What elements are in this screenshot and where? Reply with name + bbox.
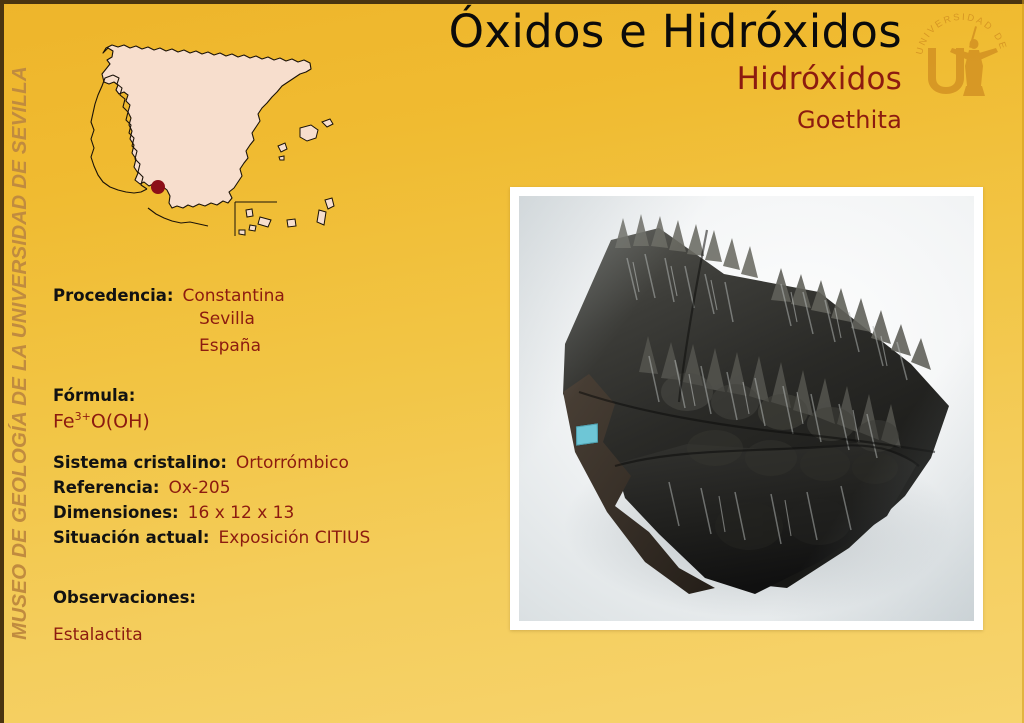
field-observaciones: Observaciones: Estalactita	[53, 588, 483, 645]
dimensiones-label: Dimensiones:	[53, 503, 179, 522]
universidad-de-sevilla-logo: UNIVERSIDAD DE SEVILLA	[906, 4, 1018, 108]
situacion-actual-value: Exposición CITIUS	[219, 528, 371, 548]
locality-marker	[151, 180, 165, 194]
canary-tenerife	[258, 217, 271, 227]
canary-gomera	[249, 225, 256, 231]
field-procedencia: Procedencia: Constantina Sevilla España	[53, 286, 483, 360]
museum-vertical-band: MUSEO DE GEOLOGÍA DE LA UNIVERSIDAD DE S…	[0, 3, 43, 703]
procedencia-value-2: Sevilla	[199, 306, 483, 333]
specimen-photo	[519, 196, 974, 621]
procedencia-value-3: España	[199, 333, 483, 360]
ibiza-island	[278, 143, 287, 152]
observaciones-value: Estalactita	[53, 625, 483, 645]
mineral-name: Goethita	[262, 102, 902, 138]
canary-lanzarote	[325, 198, 334, 209]
left-border-rule	[0, 0, 4, 723]
page-subtitle: Hidróxidos	[262, 57, 902, 102]
field-situacion-actual: Situación actual: Exposición CITIUS	[53, 528, 483, 548]
referencia-label: Referencia:	[53, 478, 160, 497]
north-africa-coast	[148, 208, 208, 226]
field-group-properties: Sistema cristalino: Ortorrómbico Referen…	[53, 453, 483, 548]
top-border-rule	[0, 0, 1024, 4]
situacion-actual-label: Situación actual:	[53, 528, 210, 547]
page-title: Óxidos e Hidróxidos	[262, 8, 902, 57]
procedencia-value-1: Constantina	[182, 286, 284, 306]
sistema-cristalino-label: Sistema cristalino:	[53, 453, 227, 472]
formula-suffix: O(OH)	[91, 410, 150, 432]
observaciones-label: Observaciones:	[53, 588, 483, 607]
title-block: Óxidos e Hidróxidos Hidróxidos Goethita	[262, 8, 902, 138]
museum-name-label: MUSEO DE GEOLOGÍA DE LA UNIVERSIDAD DE S…	[8, 66, 32, 640]
canary-palma	[246, 209, 253, 217]
mineral-specimen-card: MUSEO DE GEOLOGÍA DE LA UNIVERSIDAD DE S…	[0, 0, 1024, 723]
canary-hierro	[239, 230, 245, 235]
photo-vignette	[519, 196, 974, 621]
dimensiones-value: 16 x 12 x 13	[188, 503, 295, 523]
formentera-island	[279, 156, 284, 160]
formula-prefix: Fe	[53, 410, 75, 432]
canary-fuerteventura	[317, 210, 326, 225]
referencia-value: Ox-205	[169, 478, 231, 498]
field-dimensiones: Dimensiones: 16 x 12 x 13	[53, 503, 483, 523]
field-formula: Fórmula: Fe3+O(OH)	[53, 386, 483, 432]
formula-value: Fe3+O(OH)	[53, 410, 483, 432]
field-referencia: Referencia: Ox-205	[53, 478, 483, 498]
field-sistema-cristalino: Sistema cristalino: Ortorrómbico	[53, 453, 483, 473]
formula-superscript: 3+	[75, 410, 91, 423]
sistema-cristalino-value: Ortorrómbico	[236, 453, 349, 473]
procedencia-label: Procedencia:	[53, 286, 173, 305]
specimen-photo-frame	[510, 187, 983, 630]
canary-gran-canaria	[287, 219, 296, 227]
formula-label: Fórmula:	[53, 386, 483, 405]
specimen-data-sheet: Procedencia: Constantina Sevilla España …	[53, 286, 483, 645]
